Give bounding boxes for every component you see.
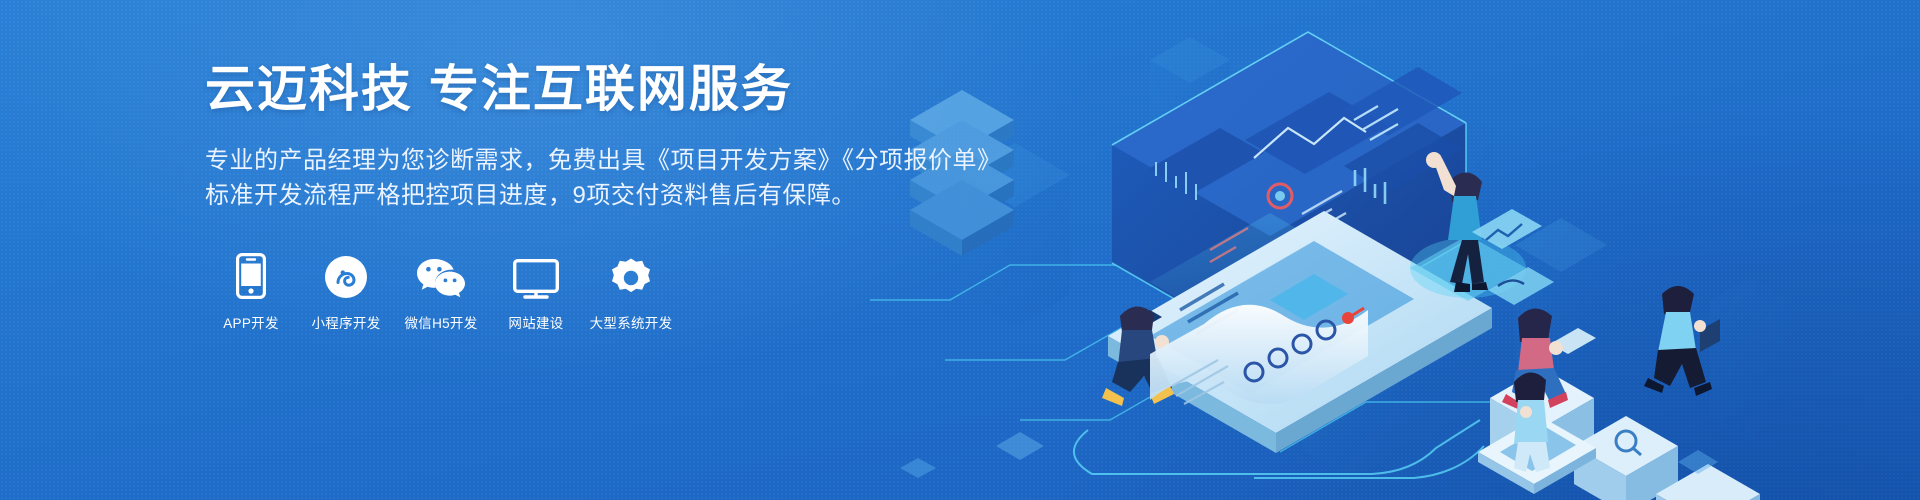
- service-label: 小程序开发: [296, 312, 396, 332]
- service-label: 微信H5开发: [391, 312, 491, 332]
- service-item-website[interactable]: 网站建设: [500, 251, 572, 332]
- service-label: APP开发: [215, 312, 287, 332]
- service-label: 大型系统开发: [581, 312, 681, 332]
- service-item-miniprogram[interactable]: 小程序开发: [310, 251, 382, 332]
- service-item-wechat-h5[interactable]: 微信H5开发: [405, 251, 477, 332]
- hero-banner: 云迈科技 专注互联网服务 专业的产品经理为您诊断需求，免费出具《项目开发方案》《…: [0, 0, 1920, 500]
- subtitle-line-2: 标准开发流程严格把控项目进度，9项交付资料售后有保障。: [205, 178, 1105, 213]
- banner-content: 云迈科技 专注互联网服务 专业的产品经理为您诊断需求，免费出具《项目开发方案》《…: [205, 62, 1105, 332]
- service-item-large-system[interactable]: 大型系统开发: [595, 251, 667, 332]
- service-label: 网站建设: [500, 312, 572, 332]
- person-walking: [1644, 286, 1720, 396]
- gear-icon: [595, 251, 667, 299]
- service-item-app[interactable]: APP开发: [215, 251, 287, 332]
- monitor-icon: [500, 251, 572, 299]
- page-title: 云迈科技 专注互联网服务: [205, 62, 1105, 117]
- service-list: APP开发 小程序开发: [215, 251, 1105, 332]
- mobile-phone-icon: [215, 251, 287, 299]
- subtitle-line-1: 专业的产品经理为您诊断需求，免费出具《项目开发方案》《分项报价单》: [205, 143, 1105, 178]
- wechat-icon: [405, 251, 477, 299]
- subtitle-block: 专业的产品经理为您诊断需求，免费出具《项目开发方案》《分项报价单》 标准开发流程…: [205, 143, 1105, 213]
- mini-program-icon: [310, 251, 382, 299]
